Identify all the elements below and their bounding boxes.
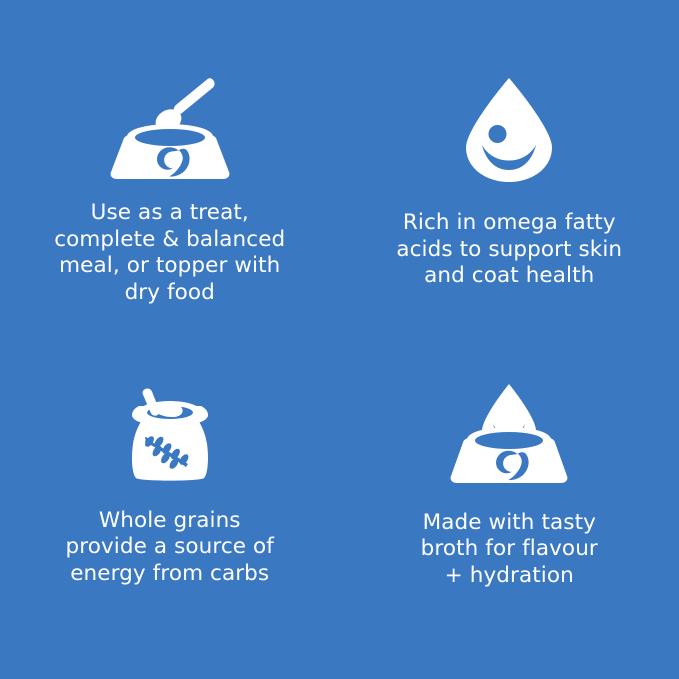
grain-sack-with-scoop-icon xyxy=(118,382,222,486)
caption-line: dry food xyxy=(54,280,285,307)
feature-caption-tasty-broth: Made with tasty broth for flavour + hydr… xyxy=(421,510,598,590)
caption-line: acids to support skin xyxy=(396,237,622,264)
caption-line: broth for flavour xyxy=(421,536,598,563)
feature-grid: Use as a treat, complete & balanced meal… xyxy=(0,0,679,679)
caption-line: Whole grains xyxy=(66,508,274,535)
feature-card-use-as-a-treat: Use as a treat, complete & balanced meal… xyxy=(0,0,340,340)
caption-line: Rich in omega fatty xyxy=(396,210,622,237)
feature-caption-whole-grains: Whole grains provide a source of energy … xyxy=(66,508,274,588)
caption-line: and coat health xyxy=(396,263,622,290)
feature-card-whole-grains: Whole grains provide a source of energy … xyxy=(0,340,340,679)
caption-line: provide a source of xyxy=(66,534,274,561)
caption-line: Use as a treat, xyxy=(54,200,285,227)
feature-card-tasty-broth: Made with tasty broth for flavour + hydr… xyxy=(340,340,679,679)
feature-card-omega-fatty-acids: Rich in omega fatty acids to support ski… xyxy=(340,0,679,340)
droplet-over-bowl-icon xyxy=(446,382,572,486)
caption-line: energy from carbs xyxy=(66,561,274,588)
caption-line: complete & balanced xyxy=(54,227,285,254)
caption-line: + hydration xyxy=(421,563,598,590)
bowl-with-spoon-icon xyxy=(104,76,236,182)
caption-line: meal, or topper with xyxy=(54,253,285,280)
caption-line: Made with tasty xyxy=(421,510,598,537)
feature-caption-use-as-a-treat: Use as a treat, complete & balanced meal… xyxy=(54,200,285,306)
feature-caption-omega-fatty-acids: Rich in omega fatty acids to support ski… xyxy=(396,210,622,290)
feature-benefits-panel: Use as a treat, complete & balanced meal… xyxy=(0,0,679,679)
smiling-water-droplet-icon xyxy=(462,76,556,190)
